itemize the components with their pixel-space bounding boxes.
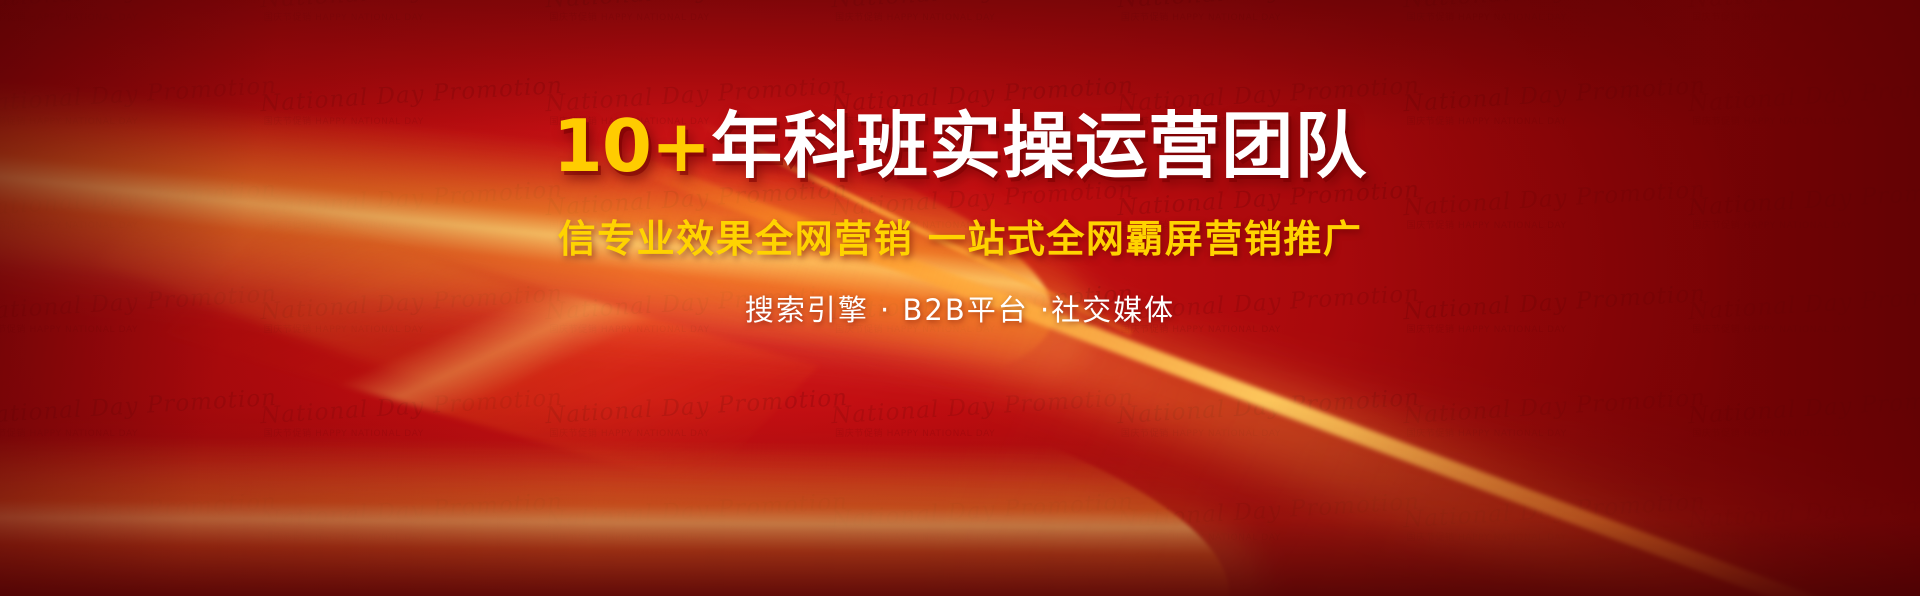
- subheadline: 信专业效果全网营销 一站式全网霸屏营销推广: [558, 208, 1363, 263]
- headline: 10+年科班实操运营团队: [553, 110, 1368, 182]
- promo-banner: National Day Promotion国庆节促销 HAPPY NATION…: [0, 0, 1920, 596]
- headline-text: 年科班实操运营团队: [710, 104, 1367, 188]
- tagline-channels: 搜索引擎 · B2B平台 ·社交媒体: [745, 287, 1175, 329]
- banner-content: 10+年科班实操运营团队 信专业效果全网营销 一站式全网霸屏营销推广 搜索引擎 …: [0, 0, 1920, 596]
- headline-number: 10+: [553, 104, 711, 188]
